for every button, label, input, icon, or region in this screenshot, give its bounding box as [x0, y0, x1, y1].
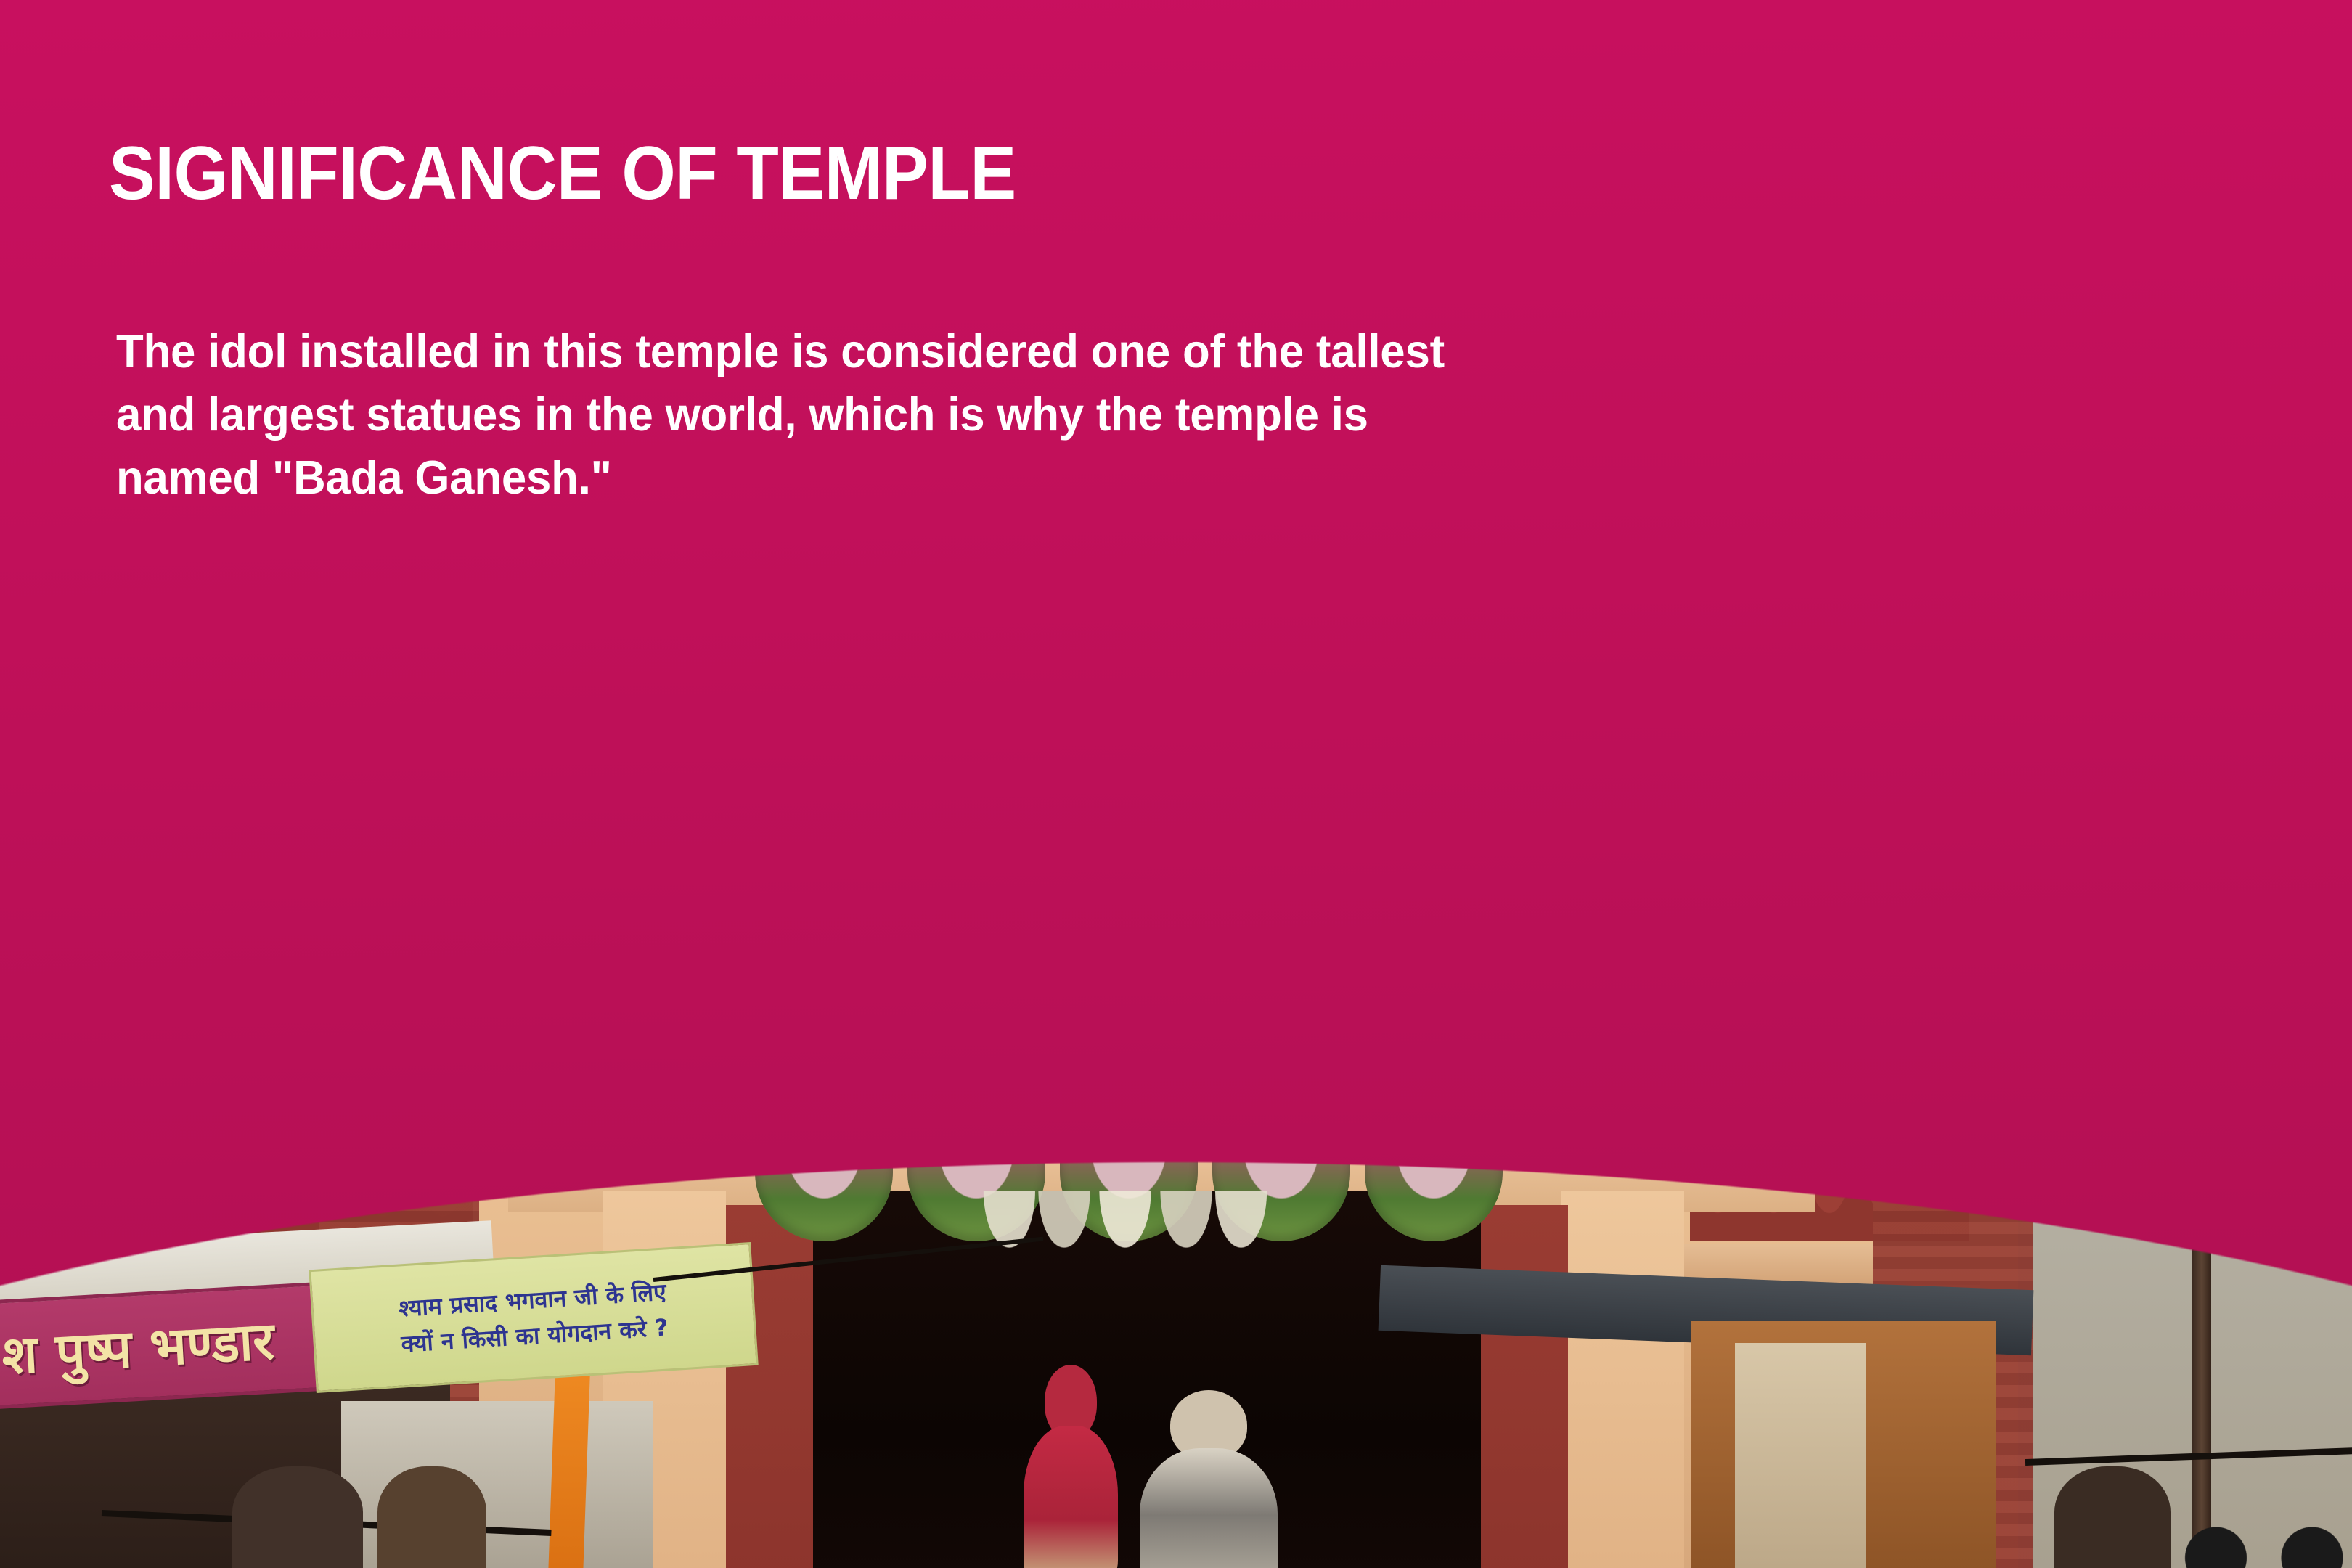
infographic-slide: श पुष्प भण्डार श्याम प्रसाद भगवान जी के … — [0, 0, 2352, 1568]
wall-poster — [2091, 907, 2185, 1002]
devotee-white-shawl — [1140, 1390, 1278, 1568]
saffron-flag — [548, 1364, 590, 1568]
page-title: SIGNIFICANCE OF TEMPLE — [109, 135, 1016, 212]
entrance-pylon-red — [1481, 1205, 1568, 1568]
parked-motorcycle — [2171, 1466, 2352, 1568]
body-paragraph: The idol installed in this temple is con… — [116, 319, 2144, 509]
crowd-silhouette — [2054, 1466, 2171, 1568]
body-line-3: named "Bada Ganesh." — [116, 446, 2144, 509]
shop-sign-text: श पुष्प भण्डार — [0, 1304, 276, 1390]
temple-photo-panel: श पुष्प भण्डार श्याम प्रसाद भगवान जी के … — [0, 726, 2352, 1568]
devotee-pink-saree — [1024, 1365, 1118, 1568]
hanging-chandelier — [973, 1191, 1278, 1285]
person-body — [1140, 1448, 1278, 1568]
crowd-silhouette — [377, 1466, 486, 1568]
entrance-pylon — [1561, 1191, 1684, 1568]
dome-lotus-petals — [923, 1009, 1313, 1143]
crowd-silhouette — [232, 1466, 363, 1568]
person-body — [1024, 1426, 1118, 1568]
body-line-2: and largest statues in the world, which … — [116, 383, 2144, 446]
temple-photograph: श पुष्प भण्डार श्याम प्रसाद भगवान जी के … — [0, 726, 2352, 1568]
body-line-1: The idol installed in this temple is con… — [116, 319, 2144, 383]
shop-sign-board: श पुष्प भण्डार — [0, 1282, 330, 1412]
right-shop-shutter — [1735, 1343, 1866, 1568]
